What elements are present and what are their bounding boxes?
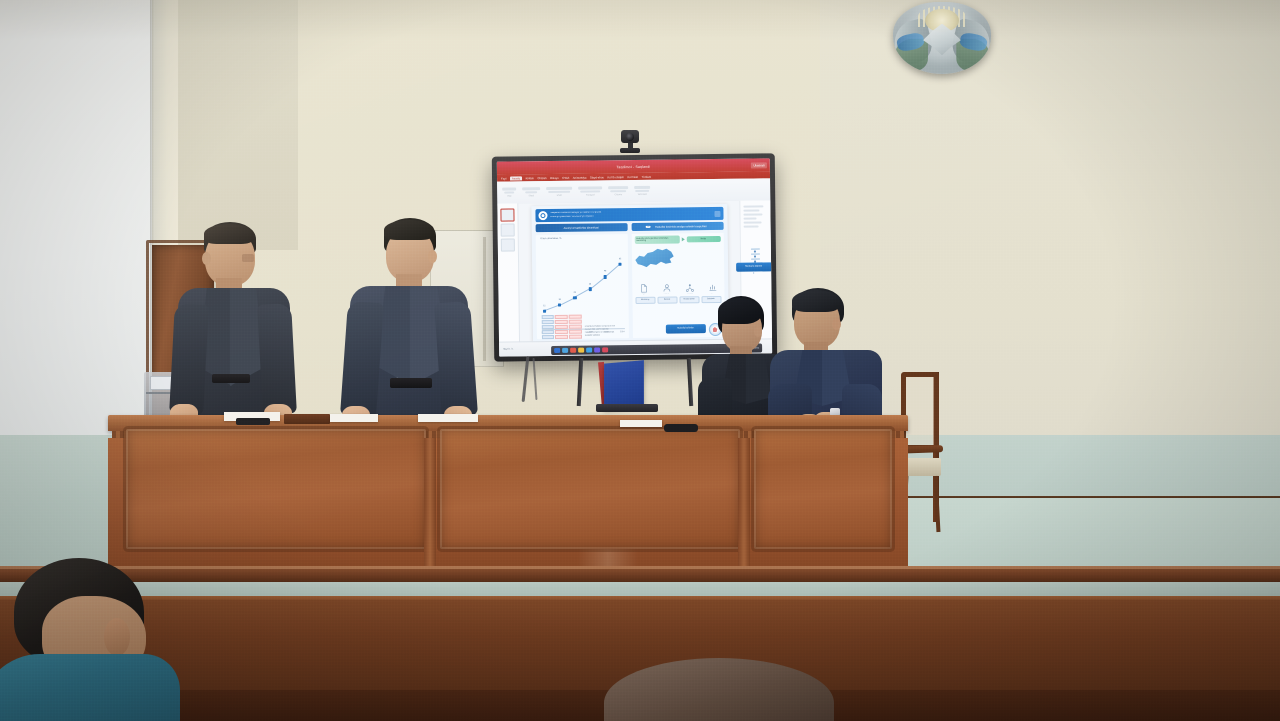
tab-animatsiya[interactable]: Animatsiya [573,175,587,179]
table-cell [555,334,568,338]
table-cell [541,330,554,334]
slide-left-panel: Asosiy ko'rsatkichlar dinamikasi O'sish … [535,223,628,339]
tab-asosiy[interactable]: Asosiy [510,176,522,180]
belt [212,374,250,383]
left-panel-subtitle: Asosiy ko'rsatkichlar dinamikasi [562,226,601,229]
ribbon-group-label: Shrift [557,195,562,197]
capability-item: Hujjat [635,284,652,296]
ribbon-group-label: Chizma [615,194,622,196]
table-row [541,334,581,339]
tab-dizayn[interactable]: Dizayn [550,175,559,179]
organization-logo-icon [538,211,547,220]
table-cell [541,335,554,339]
ribbon-group-label: Slayd [528,195,534,197]
uzbekistan-map-icon [634,248,674,274]
stage-chip: Monitoring [635,297,655,304]
tab-kiritish[interactable]: Kiritish [526,176,534,180]
slide-thumbnail-pane[interactable] [497,203,520,342]
capability-item: Kadrlar [658,284,675,296]
flow-node-primary: Markaziy apparat [736,262,772,271]
slide-header: Raqamli transformatsiya yo'nalishi bo'yi… [535,207,723,222]
table-panel [126,429,426,549]
mobile-phone [664,424,698,432]
chart-data-point [543,309,546,312]
chart-data-point [619,262,622,265]
network-icon [685,283,694,292]
tab-korib-chiqish[interactable]: Ko'rib chiqish [607,175,624,179]
process-pill-main: Hududiy ishchi guruhlar tomonidan monito… [634,235,679,243]
files-icon[interactable] [578,347,584,353]
slide-header-badge [714,210,720,216]
name-plate [284,414,330,424]
ribbon-group[interactable]: Slayd [522,187,540,197]
standing-speaker-right [344,218,474,426]
stage-chip: Hisobot berish [679,296,699,303]
right-panel-subtitle-bar: 02 Hududlar kesimida amalga oshirish bos… [631,222,723,231]
ceiling-shadow [0,0,1280,40]
tab-slayd-shou[interactable]: Slayd-shou [590,175,604,179]
presentation-slide: Raqamli transformatsiya yo'nalishi bo'yi… [531,204,729,342]
powerpoint-icon[interactable] [602,347,608,353]
ribbon-group-label: Paragraf [586,194,594,196]
table-cell [569,315,582,319]
belt [390,378,432,388]
ribbon-group[interactable]: Shrift [546,187,572,197]
audience-ear [104,618,130,656]
table-cell [555,325,568,329]
documents [620,420,662,427]
table-panel [754,429,892,549]
slide-header-line2: 2024-yil yakunlari va 2025-yil rejalari [550,214,711,219]
chart-data-label: 62 [619,258,621,260]
table-cell [569,329,582,333]
document-icon [639,284,648,293]
table-cell [569,324,582,328]
process-pill-result: Natija [686,236,720,242]
ribbon-group[interactable]: Chizma [608,186,628,196]
table-cell [541,325,554,329]
documents [330,414,378,422]
ribbon-group-label: Vaqt [507,195,511,197]
chart-data-label: 18 [558,299,560,301]
stage-chip: Nazorat [657,296,677,303]
audience-shoulders [0,654,180,721]
table-cell [541,315,554,319]
chart-data-label: 26 [574,292,576,294]
chart-data-point [604,275,607,278]
chart-data-point [558,304,561,307]
right-panel-subtitle: Hududlar kesimida amalga oshirish bosqic… [653,225,709,229]
uzbekistan-state-emblem-icon [893,2,991,74]
search-icon[interactable] [562,348,568,354]
slide-thumbnail[interactable] [500,208,514,221]
capability-label: Hujjat [641,294,646,296]
slide-counter: Slayd 1 / 1 [499,348,513,350]
ribbon-group[interactable]: Tahrirlash [634,186,650,196]
share-button[interactable]: Ulashish [751,162,767,168]
capability-label: Tahlil [710,293,714,295]
browser-icon[interactable] [586,347,592,353]
table-cell [569,334,582,338]
capability-label: Kadrlar [664,294,670,296]
chart-data-point [573,296,576,299]
chart-data-point [588,288,591,291]
slide-thumbnail[interactable] [501,223,515,236]
camera-lens [626,133,634,141]
flow-node-secondary: Hududiy bo'limlar [665,324,705,333]
table-panel [440,429,740,549]
slide-thumbnail[interactable] [501,238,515,251]
chart-title: O'sish dinamikasi, % [540,238,561,240]
table-cell [555,315,568,319]
app-title: Taqdimot - Saqlandi [616,164,650,168]
right-panel-badge: 02 [646,226,651,228]
arrow-right-icon [681,237,684,241]
audience-member-center [604,658,834,721]
audience-head [604,658,834,721]
folder-stand [596,404,658,412]
chat-icon[interactable] [594,347,600,353]
capability-item: Tarmoq [681,283,698,295]
chart-data-label: 48 [604,271,606,273]
capability-label: Tarmoq [686,293,692,295]
tab-yordam[interactable]: Yordam [642,174,652,178]
left-panel-subtitle-bar: Asosiy ko'rsatkichlar dinamikasi [535,223,627,232]
chart-data-label: 12 [543,305,545,307]
people-icon [662,284,671,293]
tab-chizish[interactable]: Chizish [537,176,546,180]
tab-fayl[interactable]: Fayl [501,176,506,180]
tab-korinish[interactable]: Ko'rinish [627,174,638,178]
video-conference-camera-icon [618,130,644,156]
growth-chart: O'sish dinamikasi, % 121826354862 201920… [535,234,628,339]
chart-data-label: 35 [589,283,591,285]
standing-speaker-left [172,222,294,422]
summary-table [541,315,581,340]
capability-item: Tahlil [704,283,721,295]
start-icon[interactable] [554,348,560,354]
ribbon-group[interactable]: Paragraf [578,186,602,196]
conference-hall-photo: Taqdimot - Saqlandi Ulashish Fayl Asosiy… [0,0,1280,721]
mail-icon[interactable] [570,347,576,353]
mobile-phone [236,418,270,425]
tab-otish[interactable]: O'tish [562,175,569,179]
table-cell [555,320,568,324]
ribbon-group-label: Tahrirlash [637,194,647,196]
ribbon-group[interactable]: Vaqt [502,188,516,198]
audience-member-left [0,558,210,721]
table-cell [555,330,568,334]
documents [418,414,478,422]
blue-folder [604,360,644,410]
capability-icons: Hujjat Kadrlar [635,283,721,296]
table-cell [541,320,554,324]
table-cell [569,320,582,324]
left-wall [0,0,160,470]
flow-connector-dot [753,273,754,274]
analytics-icon [708,283,717,292]
